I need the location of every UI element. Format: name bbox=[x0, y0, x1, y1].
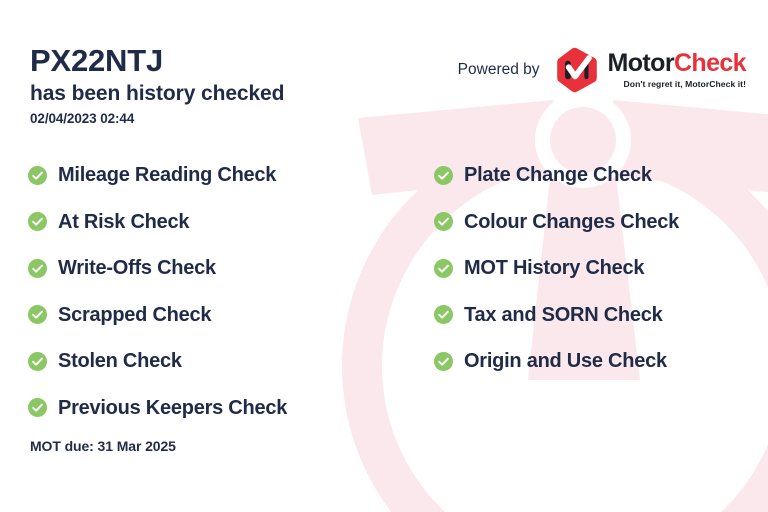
check-timestamp: 02/04/2023 02:44 bbox=[30, 111, 284, 126]
check-circle-icon bbox=[434, 305, 453, 324]
header-block: PX22NTJ has been history checked 02/04/2… bbox=[30, 44, 284, 126]
check-label: Origin and Use Check bbox=[464, 351, 667, 371]
check-label: Previous Keepers Check bbox=[58, 398, 287, 418]
powered-by-label: Powered by bbox=[458, 61, 540, 79]
list-item[interactable]: Stolen Check bbox=[28, 338, 368, 385]
motorcheck-wordmark: MotorCheck bbox=[608, 51, 746, 76]
wordmark-motor: Motor bbox=[608, 49, 674, 77]
checks-section: Mileage Reading Check At Risk Check Writ… bbox=[0, 152, 768, 431]
check-label: Stolen Check bbox=[58, 351, 182, 371]
check-circle-icon bbox=[28, 212, 47, 231]
check-circle-icon bbox=[28, 259, 47, 278]
check-circle-icon bbox=[28, 352, 47, 371]
list-item[interactable]: Write-Offs Check bbox=[28, 245, 368, 292]
list-item[interactable]: Tax and SORN Check bbox=[434, 292, 768, 339]
vehicle-history-check-card: PX22NTJ has been history checked 02/04/2… bbox=[0, 0, 768, 512]
check-label: Scrapped Check bbox=[58, 305, 211, 325]
list-item[interactable]: Plate Change Check bbox=[434, 152, 768, 199]
check-circle-icon bbox=[28, 166, 47, 185]
list-item[interactable]: MOT History Check bbox=[434, 245, 768, 292]
list-item[interactable]: Mileage Reading Check bbox=[28, 152, 368, 199]
check-label: Plate Change Check bbox=[464, 165, 652, 185]
header-subtitle: has been history checked bbox=[30, 80, 284, 107]
list-item[interactable]: Scrapped Check bbox=[28, 292, 368, 339]
motorcheck-logo[interactable]: MotorCheck Don't regret it, MotorCheck i… bbox=[554, 47, 746, 93]
brand-tagline: Don't regret it, MotorCheck it! bbox=[608, 79, 746, 89]
check-circle-icon bbox=[434, 352, 453, 371]
check-circle-icon bbox=[434, 212, 453, 231]
check-label: MOT History Check bbox=[464, 258, 644, 278]
powered-by-block: Powered by MotorCheck Don't regret it, M… bbox=[458, 47, 746, 93]
checks-right-column: Plate Change Check Colour Changes Check … bbox=[368, 152, 768, 431]
list-item[interactable]: At Risk Check bbox=[28, 199, 368, 246]
check-circle-icon bbox=[28, 305, 47, 324]
list-item[interactable]: Colour Changes Check bbox=[434, 199, 768, 246]
check-label: Mileage Reading Check bbox=[58, 165, 276, 185]
check-circle-icon bbox=[28, 398, 47, 417]
check-label: Tax and SORN Check bbox=[464, 305, 663, 325]
motorcheck-hexagon-icon bbox=[554, 47, 600, 93]
check-label: Colour Changes Check bbox=[464, 212, 679, 232]
check-circle-icon bbox=[434, 259, 453, 278]
wordmark-check: Check bbox=[674, 49, 746, 77]
page-title-plate: PX22NTJ bbox=[30, 44, 284, 79]
check-circle-icon bbox=[434, 166, 453, 185]
list-item[interactable]: Origin and Use Check bbox=[434, 338, 768, 385]
list-item[interactable]: Previous Keepers Check bbox=[28, 385, 368, 432]
checks-left-column: Mileage Reading Check At Risk Check Writ… bbox=[0, 152, 368, 431]
check-label: Write-Offs Check bbox=[58, 258, 216, 278]
mot-due-text: MOT due: 31 Mar 2025 bbox=[30, 438, 176, 454]
check-label: At Risk Check bbox=[58, 212, 189, 232]
